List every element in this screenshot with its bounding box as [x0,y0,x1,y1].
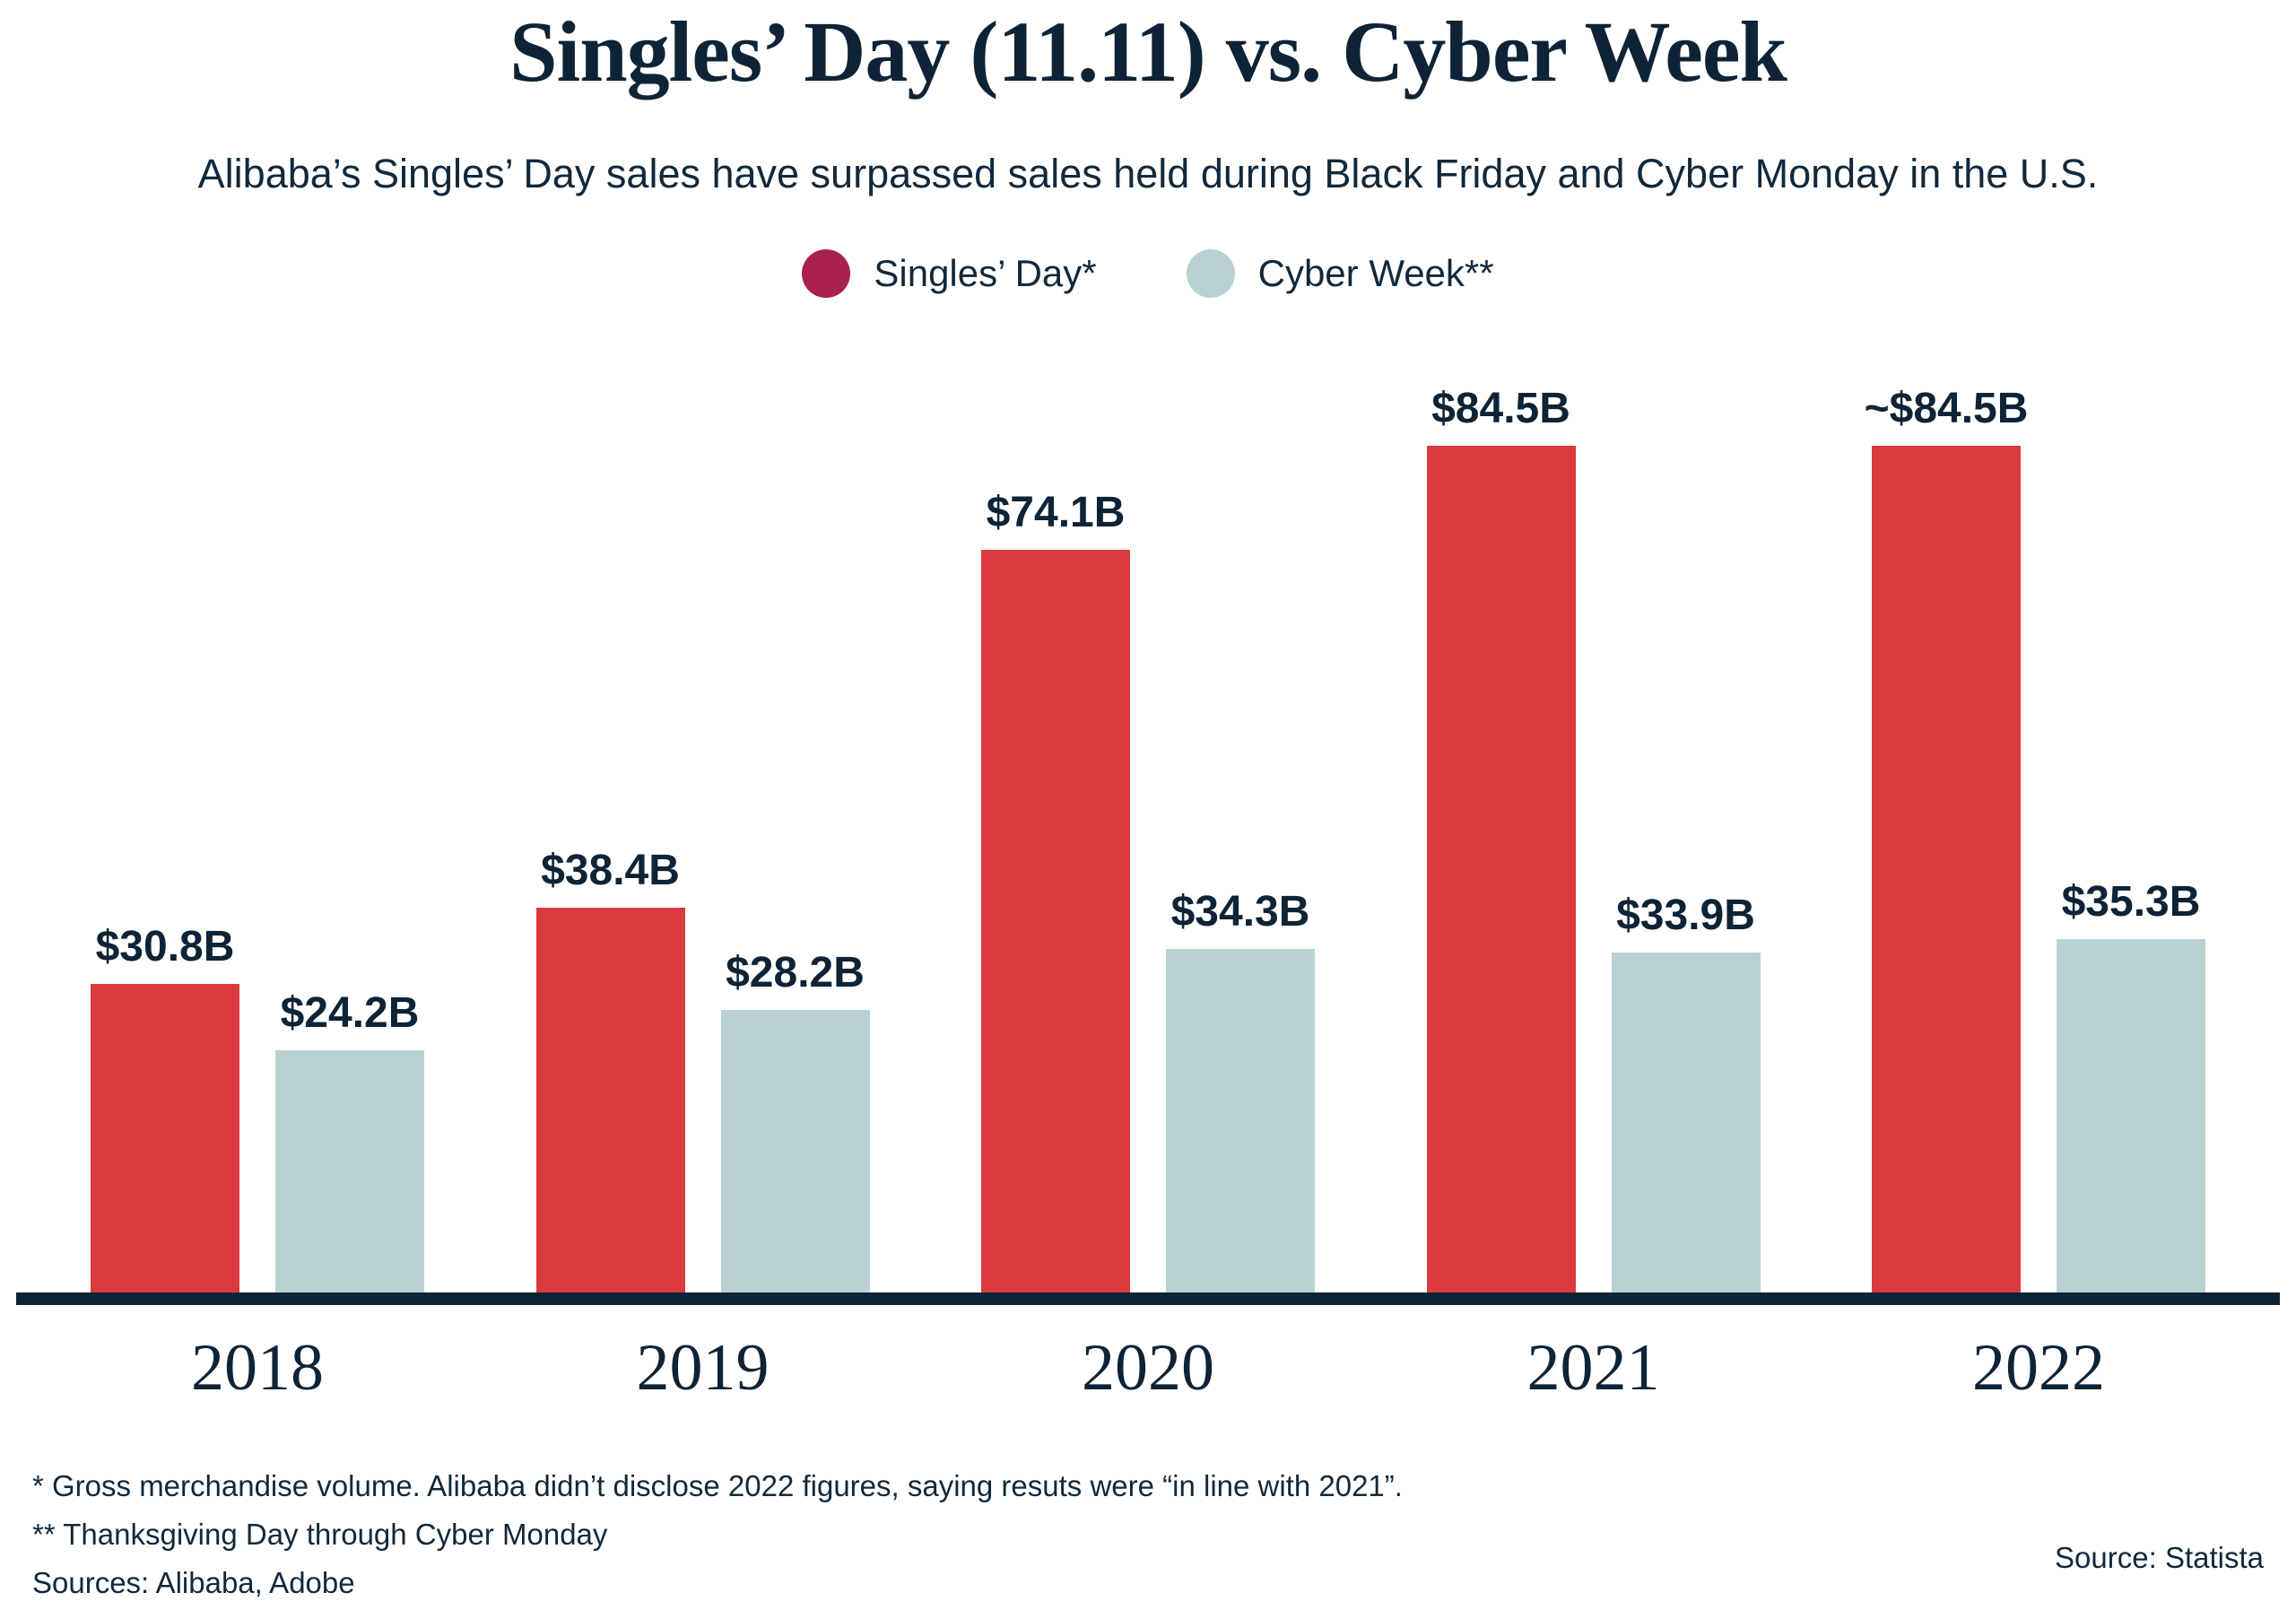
legend-label-singles-day: Singles’ Day* [874,252,1096,295]
plot-area: $30.8B$24.2B$38.4B$28.2B$74.1B$34.3B$84.… [0,341,2296,1305]
legend-dot-singles-day-icon [802,249,850,298]
page-title: Singles’ Day (11.11) vs. Cyber Week [0,7,2296,98]
bar-2019-cyber-week[interactable] [721,1010,870,1292]
bar-value-label-2022-cyber-week: $35.3B [2062,877,2201,927]
bar-value-label-2018-singles-day: $30.8B [96,922,235,971]
bar-group-2022: ~$84.5B$35.3B [1846,341,2231,1292]
footnote-gross-merchandise-volume: * Gross merchandise volume. Alibaba didn… [32,1462,2264,1510]
footnote-sources: Sources: Alibaba, Adobe [32,1559,2264,1607]
bar-value-label-2018-cyber-week: $24.2B [281,988,420,1038]
bar-group-2020: $74.1B$34.3B [955,341,1341,1292]
bar-2019-singles-day[interactable] [536,908,685,1292]
bar-2018-singles-day[interactable] [91,984,239,1292]
x-axis-label-2020: 2020 [955,1318,1341,1417]
bar-value-label-2021-singles-day: $84.5B [1431,384,1570,433]
bar-group-2019: $38.4B$28.2B [510,341,896,1292]
bar-2020-cyber-week[interactable] [1166,949,1315,1292]
x-axis-label-2019: 2019 [510,1318,896,1417]
bar-wrap-2021-cyber-week: $33.9B [1612,341,1761,1292]
bar-2018-cyber-week[interactable] [275,1050,424,1292]
x-axis-label-2022: 2022 [1846,1318,2231,1417]
bar-value-label-2020-singles-day: $74.1B [987,488,1126,537]
bar-2021-cyber-week[interactable] [1612,953,1761,1292]
legend-label-cyber-week: Cyber Week** [1258,252,1494,295]
bar-wrap-2018-singles-day: $30.8B [91,341,239,1292]
bar-wrap-2021-singles-day: $84.5B [1427,341,1576,1292]
bar-value-label-2022-singles-day: ~$84.5B [1865,384,2029,433]
legend-item-singles-day[interactable]: Singles’ Day* [802,249,1096,298]
bar-value-label-2021-cyber-week: $33.9B [1616,891,1755,940]
footnotes: * Gross merchandise volume. Alibaba didn… [32,1462,2264,1607]
legend-item-cyber-week[interactable]: Cyber Week** [1187,249,1494,298]
x-axis-labels: 20182019202020212022 [0,1318,2296,1417]
chart-legend: Singles’ Day* Cyber Week** [0,249,2296,298]
footnote-thanksgiving: ** Thanksgiving Day through Cyber Monday [32,1510,2264,1559]
bar-2021-singles-day[interactable] [1427,446,1576,1292]
source-statista: Source: Statista [2055,1541,2264,1575]
bar-group-2018: $30.8B$24.2B [65,341,450,1292]
x-axis-label-2018: 2018 [65,1318,450,1417]
legend-dot-cyber-week-icon [1187,249,1235,298]
bar-wrap-2020-singles-day: $74.1B [981,341,1130,1292]
bar-value-label-2020-cyber-week: $34.3B [1171,887,1310,936]
bar-value-label-2019-singles-day: $38.4B [541,846,680,895]
page-subtitle: Alibaba’s Singles’ Day sales have surpas… [0,151,2296,197]
chart-page: Singles’ Day (11.11) vs. Cyber Week Alib… [0,0,2296,1610]
bar-2022-cyber-week[interactable] [2057,939,2205,1292]
bar-wrap-2019-singles-day: $38.4B [536,341,685,1292]
x-axis-line [16,1292,2280,1305]
bar-wrap-2019-cyber-week: $28.2B [721,341,870,1292]
x-axis-label-2021: 2021 [1401,1318,1787,1417]
bar-2022-singles-day[interactable] [1872,446,2021,1292]
bar-2020-singles-day[interactable] [981,550,1130,1292]
bar-value-label-2019-cyber-week: $28.2B [726,948,865,997]
bar-wrap-2022-cyber-week: $35.3B [2057,341,2205,1292]
bar-groups: $30.8B$24.2B$38.4B$28.2B$74.1B$34.3B$84.… [0,341,2296,1292]
bar-group-2021: $84.5B$33.9B [1401,341,1787,1292]
bar-wrap-2022-singles-day: ~$84.5B [1872,341,2021,1292]
bar-wrap-2020-cyber-week: $34.3B [1166,341,1315,1292]
bar-wrap-2018-cyber-week: $24.2B [275,341,424,1292]
